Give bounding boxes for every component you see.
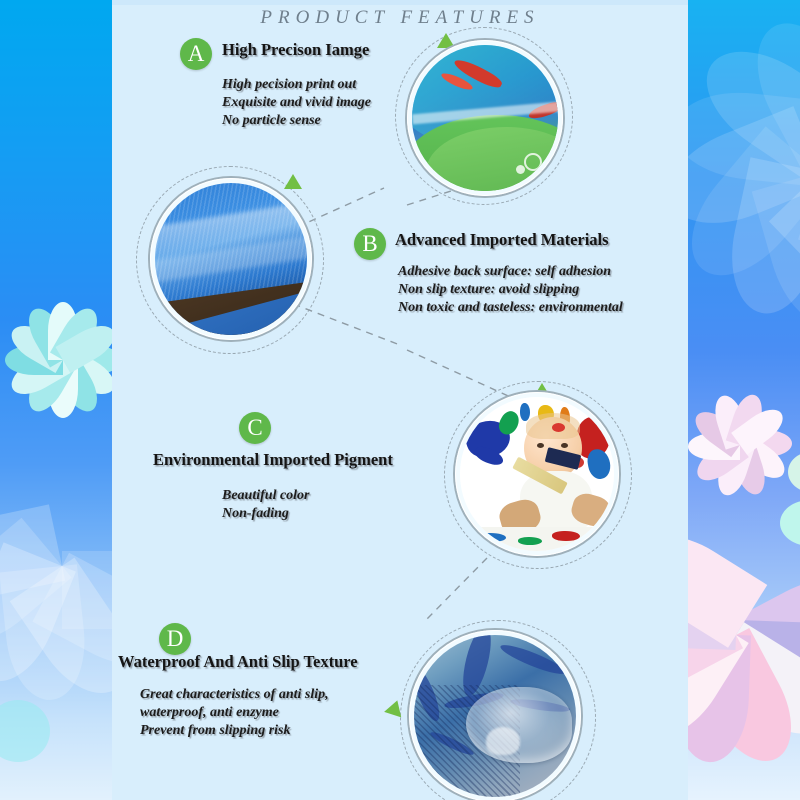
feature-d-line-2: waterproof, anti enzyme <box>140 704 329 722</box>
left-decorative-band <box>0 0 112 800</box>
product-features-poster: PRODUCT FEATURES A High Precison Iamge H… <box>0 0 800 800</box>
feature-lines-b: Adhesive back surface: self adhesion Non… <box>398 263 623 317</box>
baby-with-paint-photo <box>460 397 614 551</box>
water-drop-texture-photo <box>414 635 576 797</box>
badge-b: B <box>354 228 386 260</box>
feature-lines-a: High pecision print out Exquisite and vi… <box>222 76 371 130</box>
badge-a: A <box>180 38 212 70</box>
feature-title-a: High Precison Iamge <box>222 40 369 60</box>
feature-c-line-2: Non-fading <box>222 505 310 523</box>
baby-eye-left <box>537 443 544 448</box>
red-paint-dot-forehead <box>552 423 565 432</box>
blue-fabric-backing-photo <box>155 183 307 335</box>
photo-circle-c <box>455 392 619 556</box>
badge-c: C <box>239 412 271 444</box>
water-droplet <box>466 687 572 763</box>
koi-pond-print-photo <box>412 45 558 191</box>
main-content-panel: PRODUCT FEATURES A High Precison Iamge H… <box>112 0 688 800</box>
feature-d-line-1: Great characteristics of anti slip, <box>140 686 329 704</box>
photo-circle-d <box>409 630 581 800</box>
right-decorative-band <box>688 0 800 800</box>
feature-a-line-2: Exquisite and vivid image <box>222 94 371 112</box>
feature-a-line-1: High pecision print out <box>222 76 371 94</box>
badge-d: D <box>159 623 191 655</box>
feature-c-line-1: Beautiful color <box>222 487 310 505</box>
photo-circle-a <box>407 40 563 196</box>
connector-c-to-d <box>424 558 487 622</box>
photo-circle-b <box>150 178 312 340</box>
feature-a-line-3: No particle sense <box>222 112 371 130</box>
feature-d-line-3: Prevent from slipping risk <box>140 722 329 740</box>
feature-title-b: Advanced Imported Materials <box>395 230 609 250</box>
baby-eye-right <box>561 443 568 448</box>
feature-lines-d: Great characteristics of anti slip, wate… <box>140 686 329 740</box>
feature-b-line-3: Non toxic and tasteless: environmental <box>398 299 623 317</box>
feature-title-d: Waterproof And Anti Slip Texture <box>118 652 358 672</box>
feature-b-line-1: Adhesive back surface: self adhesion <box>398 263 623 281</box>
feature-b-line-2: Non slip texture: avoid slipping <box>398 281 623 299</box>
feature-lines-c: Beautiful color Non-fading <box>222 487 310 523</box>
feature-title-c: Environmental Imported Pigment <box>153 450 393 470</box>
